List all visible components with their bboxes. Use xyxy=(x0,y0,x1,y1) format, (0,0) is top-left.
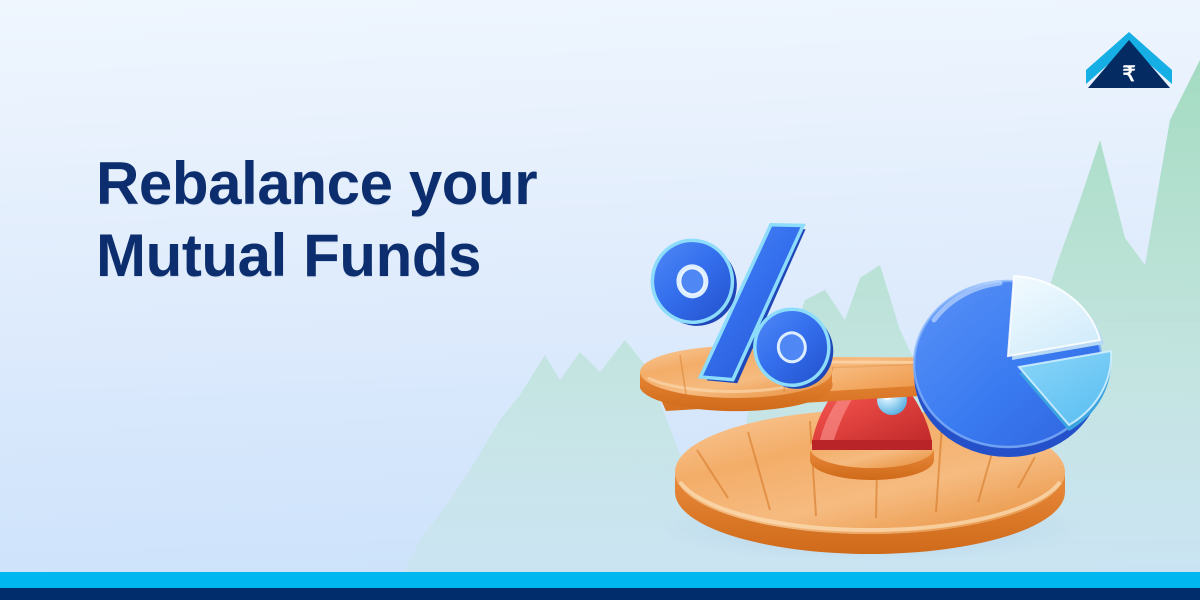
rupee-arrow-logo[interactable]: ₹ xyxy=(1086,30,1172,92)
seesaw-balance-illustration xyxy=(620,210,1120,570)
rupee-symbol: ₹ xyxy=(1122,63,1135,86)
bottom-bar-cyan xyxy=(0,572,1200,588)
banner: Rebalance your Mutual Funds ₹ xyxy=(0,0,1200,600)
page-title: Rebalance your Mutual Funds xyxy=(96,148,537,292)
bottom-bar-navy xyxy=(0,588,1200,600)
pie-chart-icon xyxy=(914,276,1111,457)
